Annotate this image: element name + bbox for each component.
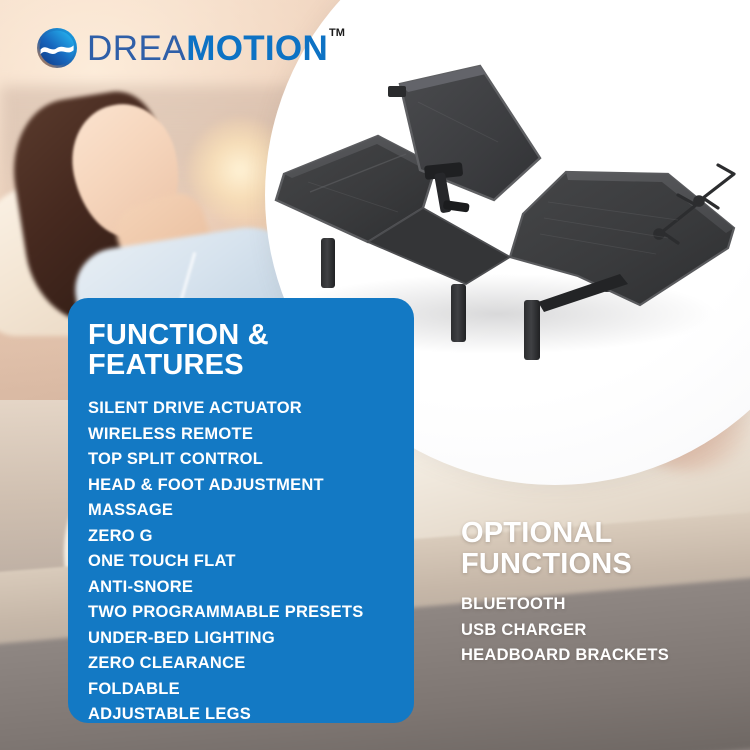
- brand-name-light: DREA: [87, 31, 186, 66]
- optional-functions-title-line2: FUNCTIONS: [461, 549, 741, 580]
- function-features-title-line1: FUNCTION &: [88, 320, 390, 350]
- list-item: UNDER-BED LIGHTING: [88, 626, 390, 651]
- brand-logo[interactable]: DREAMOTIONTM: [36, 27, 345, 69]
- list-item: ZERO G: [88, 524, 390, 549]
- list-item: TWO PROGRAMMABLE PRESETS: [88, 600, 390, 625]
- list-item: ADJUSTABLE LEGS: [88, 702, 390, 727]
- list-item: TOP SPLIT CONTROL: [88, 447, 390, 472]
- optional-functions-block: OPTIONAL FUNCTIONS BLUETOOTH USB CHARGER…: [461, 518, 741, 669]
- list-item: ZERO CLEARANCE: [88, 651, 390, 676]
- list-item: BLUETOOTH: [461, 592, 741, 617]
- feature-list: SILENT DRIVE ACTUATOR WIRELESS REMOTE TO…: [88, 396, 390, 727]
- list-item: HEAD & FOOT ADJUSTMENT: [88, 473, 390, 498]
- list-item: FOLDABLE: [88, 677, 390, 702]
- optional-functions-list: BLUETOOTH USB CHARGER HEADBOARD BRACKETS: [461, 592, 741, 668]
- optional-functions-title-line1: OPTIONAL: [461, 518, 741, 549]
- list-item: USB CHARGER: [461, 618, 741, 643]
- brand-name-bold: MOTION: [186, 31, 328, 66]
- brand-wordmark: DREAMOTIONTM: [87, 31, 345, 66]
- function-features-title: FUNCTION & FEATURES: [88, 320, 390, 380]
- list-item: ANTI-SNORE: [88, 575, 390, 600]
- list-item: SILENT DRIVE ACTUATOR: [88, 396, 390, 421]
- function-features-panel: FUNCTION & FEATURES SILENT DRIVE ACTUATO…: [68, 298, 414, 723]
- list-item: MASSAGE: [88, 498, 390, 523]
- list-item: HEADBOARD BRACKETS: [461, 643, 741, 668]
- list-item: WIRELESS REMOTE: [88, 422, 390, 447]
- optional-functions-title: OPTIONAL FUNCTIONS: [461, 518, 741, 579]
- function-features-title-line2: FEATURES: [88, 350, 390, 380]
- product-feature-poster: DREAMOTIONTM FUNCTION & FEATURES SILENT …: [0, 0, 750, 750]
- trademark-symbol: TM: [329, 28, 345, 39]
- dreamotion-wave-circle-icon: [36, 27, 78, 69]
- list-item: ONE TOUCH FLAT: [88, 549, 390, 574]
